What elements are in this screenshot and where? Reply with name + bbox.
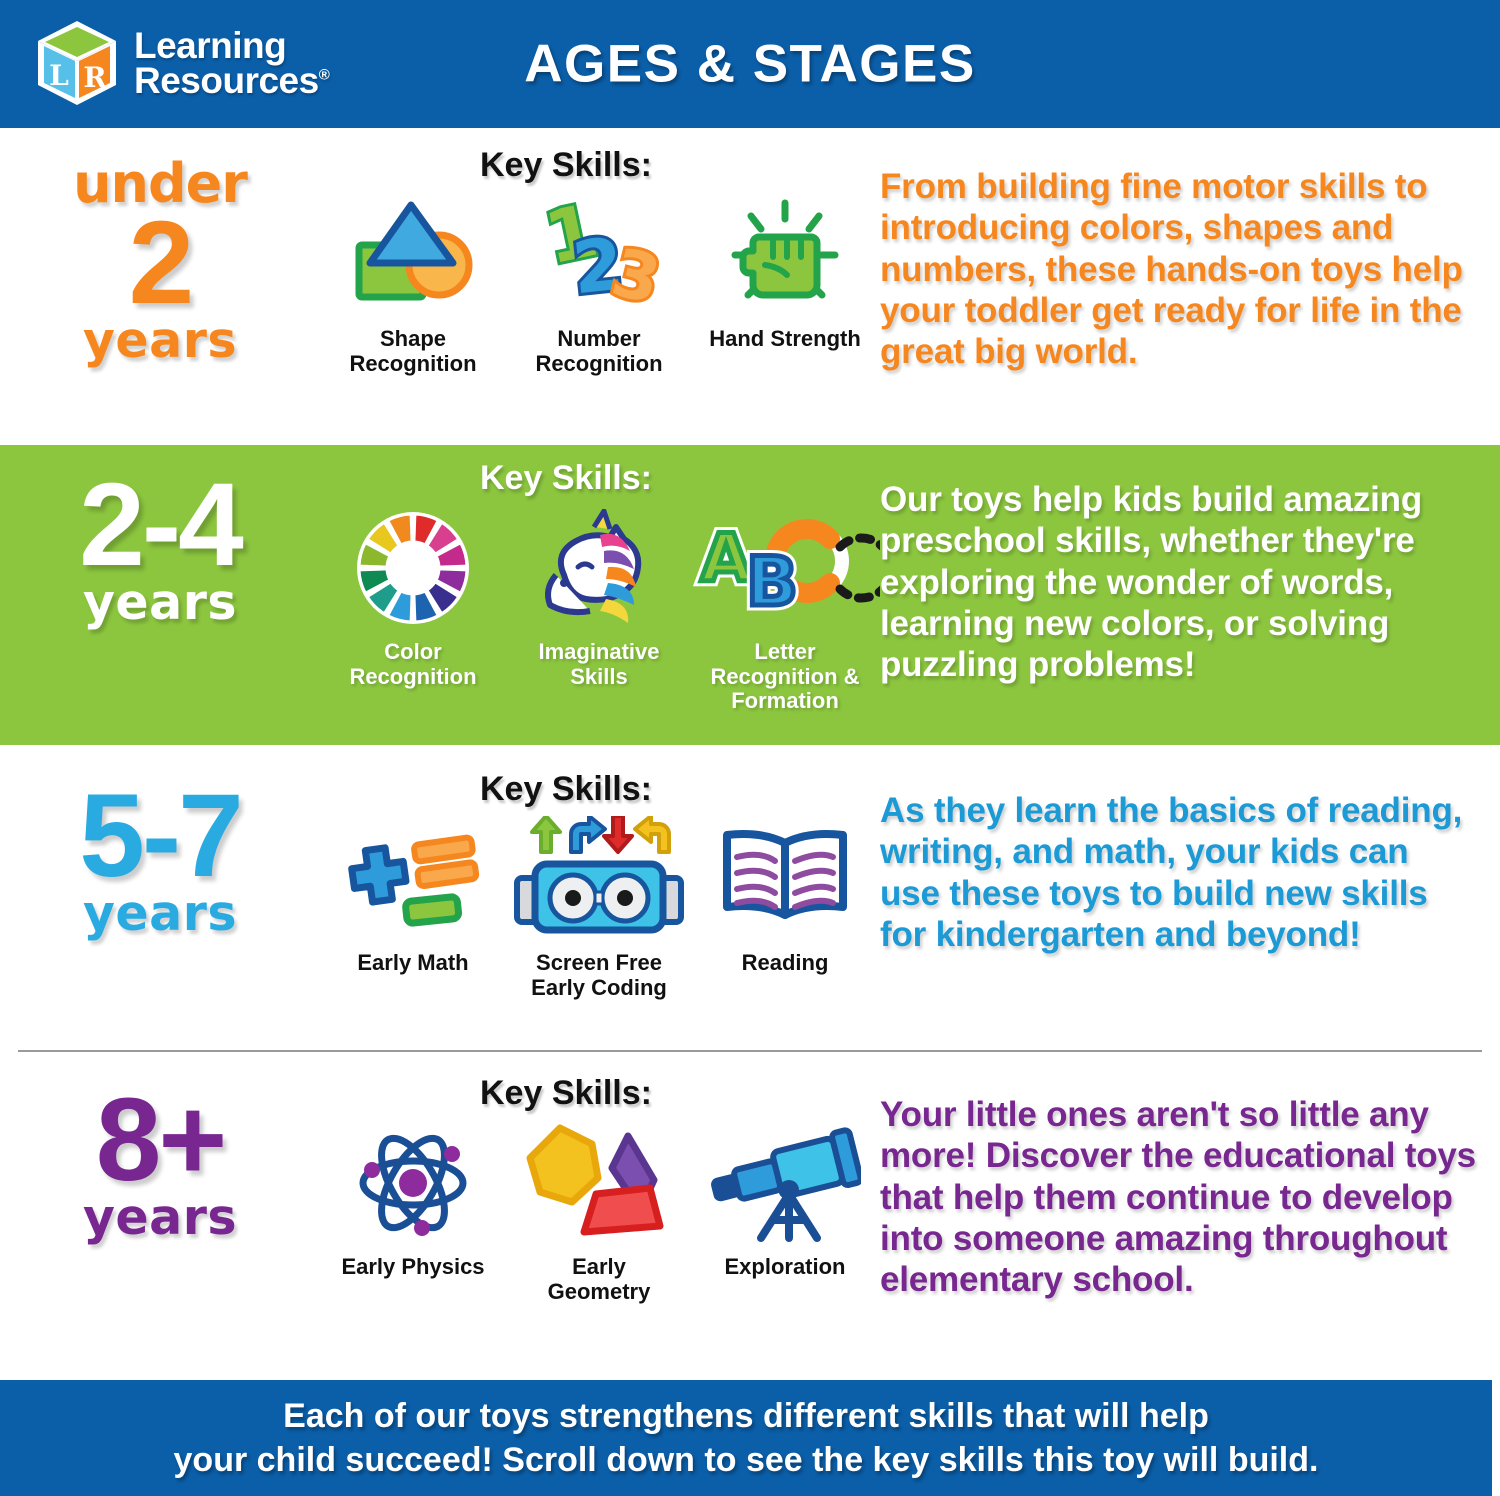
skill-label: LetterRecognition &Formation [710,640,859,714]
age-years-label: years [83,1193,237,1242]
blurb-column: From building fine motor skills to intro… [880,132,1500,372]
skill-label: Early Math [357,951,468,976]
infographic-page: L R Learning Resources® AGES & STAGES un… [0,0,1500,1496]
geometry-shapes-icon [524,1119,674,1247]
skill-label: Hand Strength [709,327,861,352]
fist-hand-strength-icon [725,191,845,319]
coding-robot-icon [511,815,687,943]
blurb-column: Your little ones aren't so little any mo… [880,1060,1500,1300]
age-number: 8+ [96,1086,225,1195]
numbers-123-icon: 1 2 3 [536,191,662,319]
age-row-8-plus: 8+yearsKey Skills: Early Physics EarlyGe… [0,1060,1500,1360]
key-skills-heading: Key Skills: [480,770,880,809]
age-blurb: Our toys help kids build amazing prescho… [880,479,1476,685]
key-skills-heading: Key Skills: [480,146,880,185]
age-row-under-2: under2yearsKey Skills: ShapeRecognition … [0,132,1500,442]
open-book-icon [717,815,853,943]
skill-label: EarlyGeometry [548,1255,651,1304]
skills-grid: ColorRecognition ImaginativeSkills A A B… [320,504,880,714]
shapes-icon [353,191,473,319]
skill-item: ShapeRecognition [320,191,506,376]
skills-grid: Early Physics EarlyGeometry Exploration [320,1119,880,1304]
age-label-2-4: 2-4years [0,445,320,627]
unicorn-icon [534,504,664,632]
skill-item: Exploration [692,1119,878,1280]
blurb-column: As they learn the basics of reading, wri… [880,756,1500,955]
skill-label: ShapeRecognition [349,327,476,376]
key-skills-group-8-plus: Key Skills: Early Physics EarlyGeometry [320,1060,880,1304]
footer-line-1: Each of our toys strengthens different s… [283,1397,1209,1435]
age-years-label: years [83,316,237,365]
age-blurb: From building fine motor skills to intro… [880,166,1476,372]
skill-item: Reading [692,815,878,976]
key-skills-heading: Key Skills: [480,1074,880,1113]
row-divider [18,1050,1482,1052]
age-label-under-2: under2years [0,132,320,365]
skill-label: Screen FreeEarly Coding [531,951,667,1000]
footer-banner: Each of our toys strengthens different s… [0,1380,1492,1496]
skill-item: Early Physics [320,1119,506,1280]
abc-letters-icon: A A B B [690,504,880,632]
age-years-label: years [83,578,237,627]
blurb-column: Our toys help kids build amazing prescho… [880,445,1500,685]
key-skills-group-2-4: Key Skills:ColorRecognition ImaginativeS… [320,445,880,714]
skill-label: ImaginativeSkills [538,640,659,689]
key-skills-group-under-2: Key Skills: ShapeRecognition 1 2 3 Numbe… [320,132,880,376]
skill-label: ColorRecognition [349,640,476,689]
age-row-5-7: 5-7yearsKey Skills: Early Math [0,756,1500,1048]
skill-item: Early Math [320,815,506,976]
header-banner: L R Learning Resources® AGES & STAGES [0,0,1500,128]
page-title: AGES & STAGES [0,34,1500,95]
key-skills-heading: Key Skills: [480,459,880,498]
age-number: 2 [129,209,192,318]
svg-text:B: B [746,543,798,622]
key-skills-group-5-7: Key Skills: Early Math [320,756,880,1000]
math-symbols-icon [338,815,488,943]
skill-label: NumberRecognition [535,327,662,376]
age-label-5-7: 5-7years [0,756,320,938]
age-number: 5-7 [79,782,241,891]
age-blurb: Your little ones aren't so little any mo… [880,1094,1476,1300]
svg-text:A: A [700,520,751,597]
footer-text: Each of our toys strengthens different s… [114,1394,1379,1482]
skill-item: ColorRecognition [320,504,506,689]
skill-item: Hand Strength [692,191,878,352]
age-number: 2-4 [79,471,241,580]
skill-label: Early Physics [341,1255,484,1280]
skills-grid: Early Math Screen FreeEarly Coding [320,815,880,1000]
skill-item: A A B B LetterRecognition &Formation [692,504,878,714]
color-wheel-icon [353,504,473,632]
age-row-2-4: 2-4yearsKey Skills:ColorRecognition Imag… [0,445,1500,745]
telescope-icon [709,1119,861,1247]
age-years-label: years [83,889,237,938]
skill-item: Screen FreeEarly Coding [506,815,692,1000]
footer-line-2: your child succeed! Scroll down to see t… [174,1441,1319,1479]
atom-icon [350,1119,476,1247]
age-label-8-plus: 8+years [0,1060,320,1242]
age-blurb: As they learn the basics of reading, wri… [880,790,1476,955]
skills-grid: ShapeRecognition 1 2 3 NumberRecognition [320,191,880,376]
skill-item: 1 2 3 NumberRecognition [506,191,692,376]
skill-label: Exploration [724,1255,845,1280]
skill-item: EarlyGeometry [506,1119,692,1304]
skill-label: Reading [742,951,829,976]
skill-item: ImaginativeSkills [506,504,692,689]
